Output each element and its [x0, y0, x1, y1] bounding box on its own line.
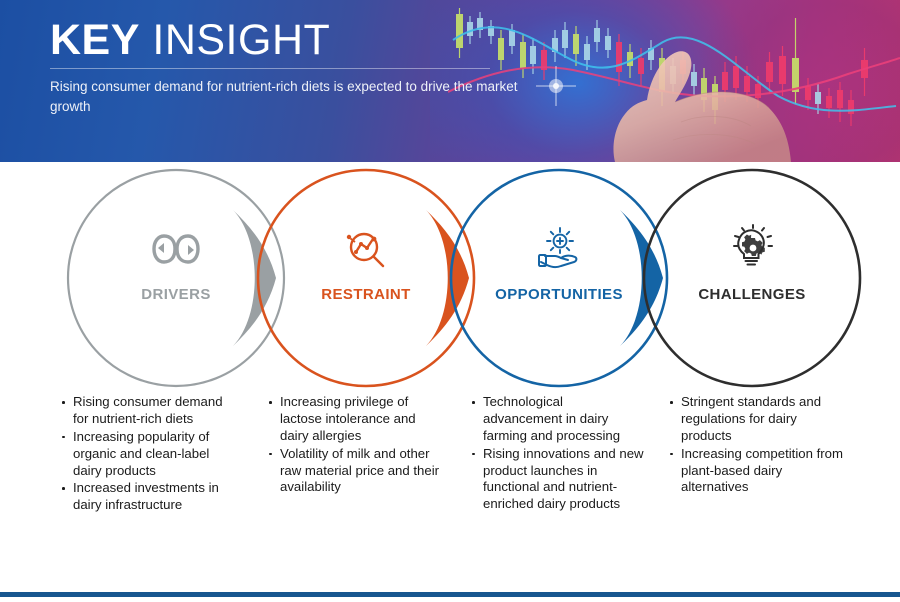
footer-accent-bar	[0, 592, 900, 597]
infographic-page: KEY INSIGHT Rising consumer demand for n…	[0, 0, 900, 602]
circle-drivers	[68, 170, 284, 386]
lightbulb-gear-icon	[733, 224, 773, 270]
circle-restraint	[258, 170, 474, 386]
hand-holding-sun-icon	[537, 227, 583, 271]
list-item: Technological advancement in dairy farmi…	[470, 394, 645, 445]
list-item: Stringent standards and regulations for …	[668, 394, 843, 445]
list-item: Increasing privilege of lactose intolera…	[267, 394, 447, 445]
bullet-column-drivers: Rising consumer demand for nutrient-rich…	[60, 394, 240, 515]
header-banner: KEY INSIGHT Rising consumer demand for n…	[0, 0, 900, 162]
infinity-loop-icon	[152, 232, 200, 266]
header-subtitle: Rising consumer demand for nutrient-rich…	[50, 77, 520, 116]
list-item: Increasing popularity of organic and cle…	[60, 429, 240, 480]
circle-label-drivers[interactable]: DRIVERS	[116, 286, 236, 303]
list-item: Rising innovations and new product launc…	[470, 446, 645, 514]
list-item: Increasing competition from plant-based …	[668, 446, 843, 497]
list-item: Volatility of milk and other raw materia…	[267, 446, 447, 497]
bullet-column-challenges: Stringent standards and regulations for …	[668, 394, 843, 497]
magnifier-chart-icon	[343, 230, 389, 270]
list-item: Increased investments in dairy infrastru…	[60, 480, 240, 514]
circle-label-restraint[interactable]: RESTRAINT	[296, 286, 436, 303]
circle-challenges	[644, 170, 860, 386]
process-circles-diagram: DRIVERS RESTRAINT OPPORTUNITIES CHALLENG…	[0, 162, 900, 394]
title-divider	[50, 68, 490, 69]
page-title: KEY INSIGHT	[50, 18, 330, 63]
bullet-column-restraint: Increasing privilege of lactose intolera…	[267, 394, 447, 497]
bullet-column-opportunities: Technological advancement in dairy farmi…	[470, 394, 645, 514]
list-item: Rising consumer demand for nutrient-rich…	[60, 394, 240, 428]
bullet-columns: Rising consumer demand for nutrient-rich…	[0, 394, 900, 564]
circle-label-challenges[interactable]: CHALLENGES	[682, 286, 822, 303]
circle-opportunities	[451, 170, 667, 386]
title-bold-word: KEY	[50, 16, 140, 64]
title-light-word: INSIGHT	[140, 16, 330, 64]
circle-label-opportunities[interactable]: OPPORTUNITIES	[479, 286, 639, 303]
